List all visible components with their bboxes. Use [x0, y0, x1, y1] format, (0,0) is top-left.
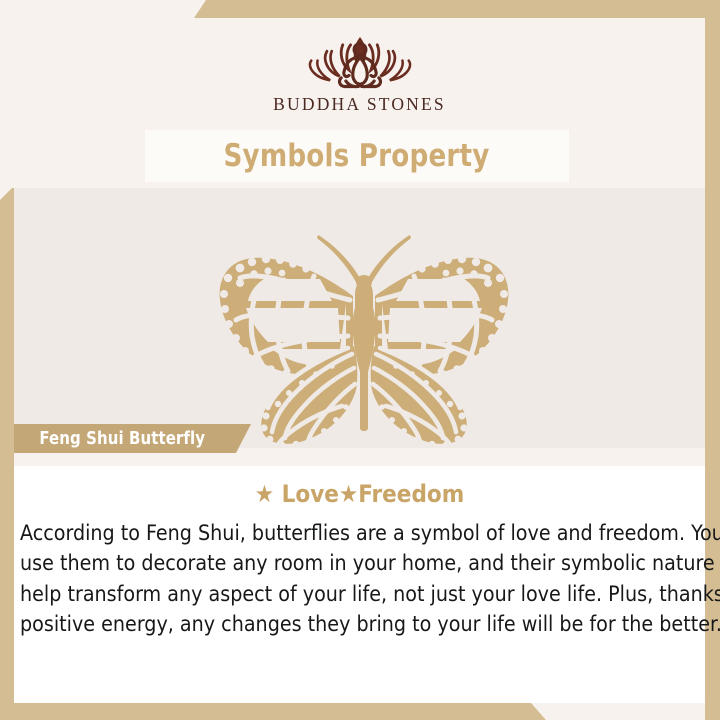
paragraph-line-2: use them to decorate any room in your ho… [20, 549, 689, 579]
frame-bottom-accent [0, 703, 720, 720]
brand-logo: BUDDHA STONES [14, 26, 705, 115]
lotus-meditation-icon [280, 26, 440, 92]
section-title-band: Symbols Property [145, 130, 569, 182]
butterfly-illustration-panel [14, 188, 705, 448]
ribbon-label: Feng Shui Butterfly [39, 429, 205, 449]
page-title: Symbols Property [224, 138, 490, 174]
frame-top-accent [0, 0, 720, 18]
feng-shui-butterfly-ribbon: Feng Shui Butterfly [14, 424, 251, 453]
frame-left-accent [0, 188, 14, 720]
content-stage: BUDDHA STONES Symbols Property [14, 18, 705, 703]
monarch-butterfly-icon [192, 196, 536, 448]
description-paragraph: According to Feng Shui, butterflies are … [14, 519, 705, 641]
infographic-page: BUDDHA STONES Symbols Property [0, 0, 720, 720]
brand-name: BUDDHA STONES [273, 94, 446, 115]
love-freedom-subheading: ★ Love★Freedom [14, 480, 705, 508]
description-block: ★ Love★Freedom According to Feng Shui, b… [14, 466, 705, 703]
paragraph-line-3: help transform any aspect of your life, … [20, 580, 689, 610]
brand-header: BUDDHA STONES [14, 18, 705, 122]
paragraph-line-4: positive energy, any changes they bring … [20, 610, 689, 640]
paragraph-line-1: According to Feng Shui, butterflies are … [20, 519, 689, 549]
